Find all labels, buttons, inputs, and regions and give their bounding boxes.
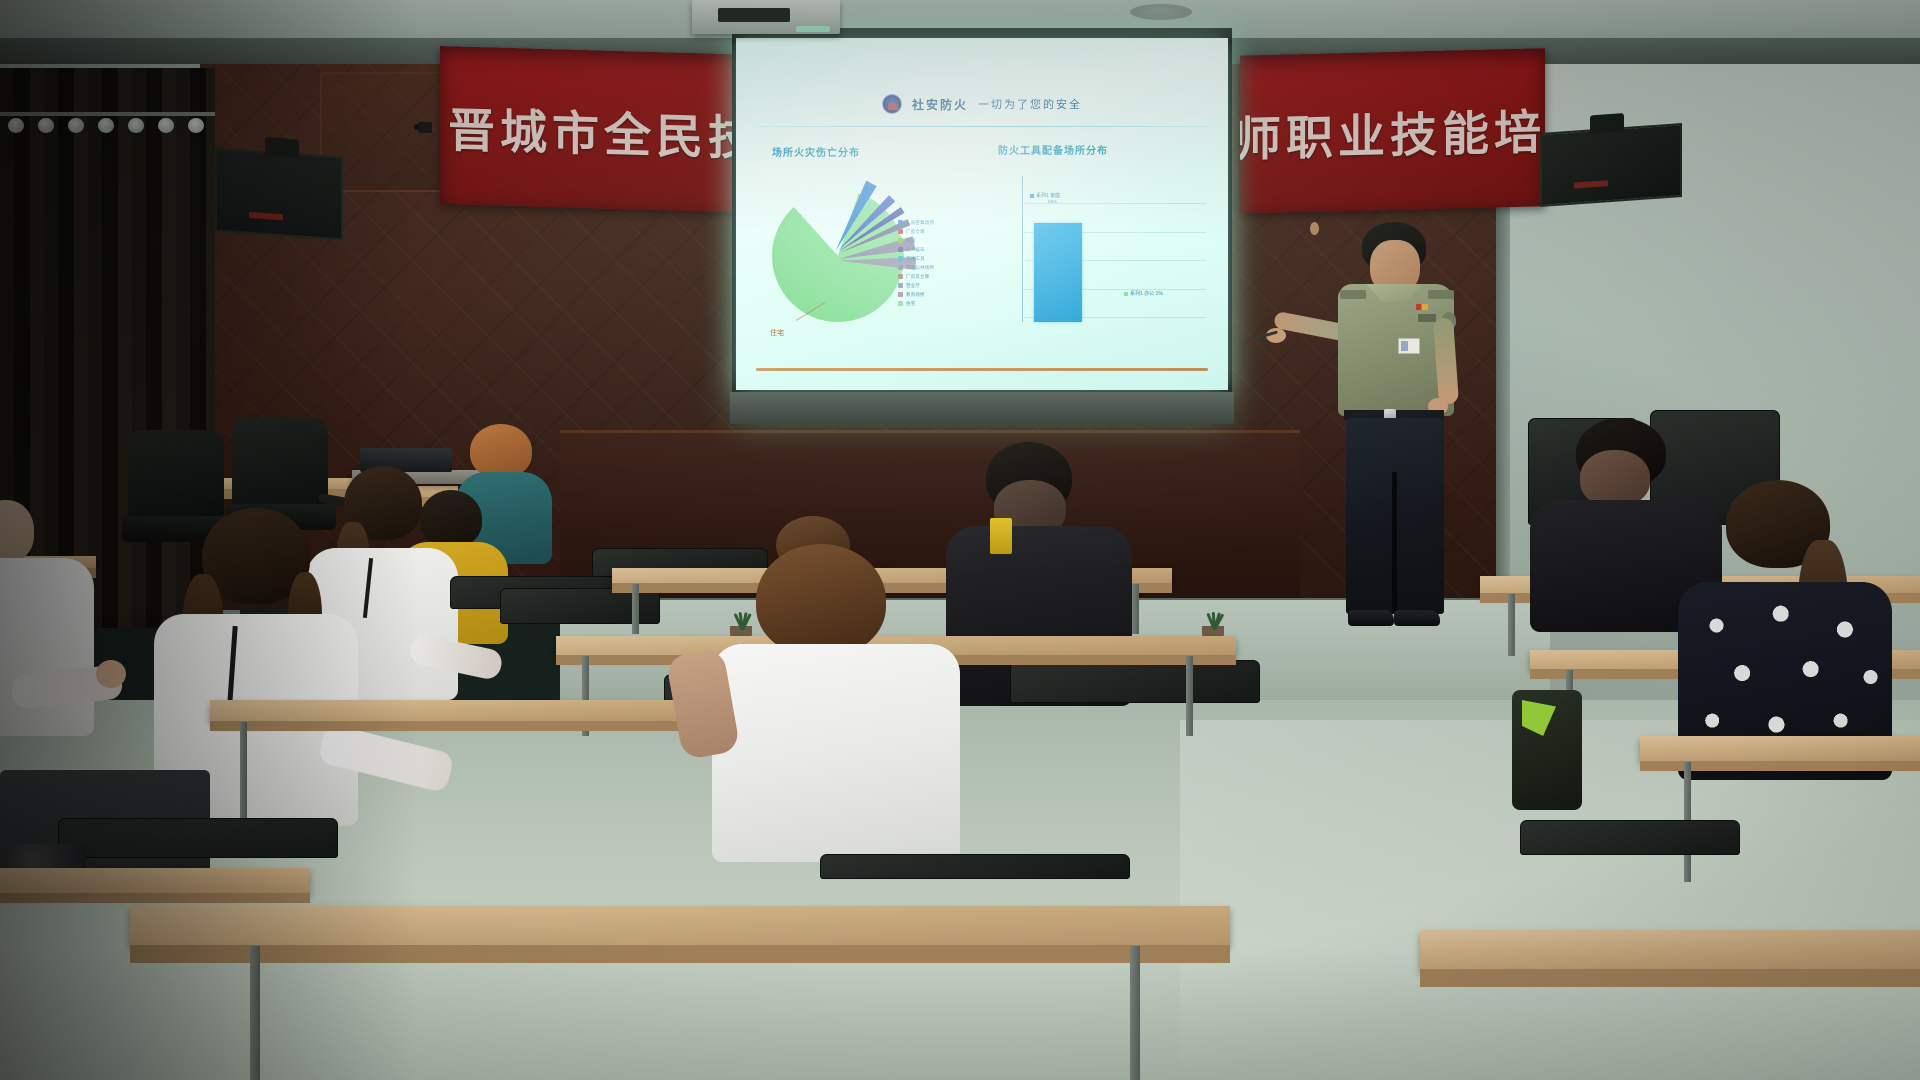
track-light-icon bbox=[188, 118, 204, 133]
classroom-photo: 晋城市全民技能提 师职业技能培训班 社安防火 一切为了您的安全 场所火灾伤亡分布… bbox=[0, 0, 1920, 1080]
presenter-epaulet-right bbox=[1428, 290, 1454, 299]
legend-label: 教育场所 bbox=[906, 292, 925, 298]
track-light-icon bbox=[128, 118, 144, 133]
track-light-icon bbox=[98, 118, 114, 133]
presenter-name-tag bbox=[1418, 314, 1436, 322]
projected-slide: 社安防火 一切为了您的安全 场所火灾伤亡分布 防火工具配备场所分布 人员密集场所… bbox=[736, 38, 1228, 390]
attendee-hair bbox=[470, 424, 532, 478]
legend-label: 营业厅 bbox=[906, 283, 920, 289]
bar-chart-bar bbox=[1034, 223, 1082, 322]
desk-row-left-b bbox=[210, 700, 700, 722]
pie-legend-item: 住宅 bbox=[898, 299, 934, 308]
chair bbox=[1010, 660, 1260, 730]
track-light-icon bbox=[38, 118, 54, 133]
presenter-leg-gap bbox=[1392, 472, 1397, 614]
pie-legend-item: 厂房仓库 bbox=[898, 227, 934, 236]
wall-speaker-left bbox=[215, 148, 343, 241]
slide-tagline: 一切为了您的安全 bbox=[978, 96, 1082, 112]
shield-logo-icon bbox=[882, 94, 902, 114]
potted-plant bbox=[1190, 588, 1236, 630]
legend-swatch bbox=[898, 220, 903, 225]
pie-legend-item: 公共娱乐 bbox=[898, 245, 934, 254]
desk-front-left bbox=[0, 868, 310, 894]
attendee-hair bbox=[420, 490, 482, 548]
chair bbox=[1520, 820, 1740, 876]
legend-swatch bbox=[898, 247, 903, 252]
pie-chart-title: 场所火灾伤亡分布 bbox=[772, 144, 860, 159]
legend-label: 人员密集场所 bbox=[906, 220, 934, 226]
legend-label: 公共娱乐 bbox=[906, 247, 925, 253]
legend-swatch bbox=[898, 292, 903, 297]
legend-label: 交通工具 bbox=[906, 256, 925, 262]
pie-legend-item: 人员密集场所 bbox=[898, 218, 934, 227]
ceiling-vent-icon bbox=[1130, 4, 1192, 20]
presenter-epaulet-left bbox=[1340, 290, 1366, 299]
legend-swatch bbox=[898, 229, 903, 234]
bar-label-text: 系列1 家庭 bbox=[1036, 192, 1060, 199]
legend-label: 住宅 bbox=[906, 301, 915, 307]
presenter-shoe-left bbox=[1348, 610, 1394, 626]
bar-chart: 系列1 家庭 68% 系列1 办公 1% bbox=[988, 166, 1210, 358]
bar-series-label-family: 系列1 家庭 bbox=[1030, 192, 1060, 199]
track-light-icon bbox=[68, 118, 84, 133]
attendee-shirt bbox=[0, 558, 94, 736]
legend-label: 厂房仓库 bbox=[906, 229, 925, 235]
legend-swatch bbox=[898, 238, 903, 243]
wall-camera-icon bbox=[418, 122, 432, 133]
bar-chart-y-axis bbox=[1022, 176, 1023, 322]
legend-swatch bbox=[898, 301, 903, 306]
pie-legend-item: 商铺 bbox=[898, 236, 934, 245]
legend-label: 厂房及仓库 bbox=[906, 274, 930, 280]
bar-chart-title: 防火工具配备场所分布 bbox=[998, 142, 1108, 157]
track-light-icon bbox=[158, 118, 174, 133]
slide-header: 社安防火 一切为了您的安全 bbox=[736, 90, 1228, 118]
presenter-flag-pin bbox=[1416, 304, 1428, 310]
attendee-hand bbox=[96, 660, 126, 688]
banner-right: 师职业技能培训班 bbox=[1240, 48, 1545, 213]
bar-label-text-2: 系列1 办公 1% bbox=[1130, 290, 1163, 297]
legend-swatch bbox=[898, 265, 903, 270]
legend-swatch bbox=[898, 274, 903, 279]
pie-legend-item: 其他公共场所 bbox=[898, 263, 934, 272]
presenter-shoe-right bbox=[1394, 610, 1440, 626]
pie-legend-item: 教育场所 bbox=[898, 290, 934, 299]
bar-series-label-office: 系列1 办公 1% bbox=[1124, 290, 1163, 297]
projector-lens-icon bbox=[796, 26, 830, 32]
presenter-ear bbox=[1310, 222, 1319, 235]
presenter-instructor bbox=[1310, 222, 1510, 672]
banner-right-text: 师职业技能培训班 bbox=[1240, 90, 1545, 169]
pie-legend-item: 厂房及仓库 bbox=[898, 272, 934, 281]
track-light-icon bbox=[8, 118, 24, 133]
attendee-shirt bbox=[712, 644, 960, 862]
bar-data-label: 68% bbox=[1048, 199, 1057, 204]
slide-footer-rule bbox=[756, 368, 1208, 371]
track-light-rail bbox=[0, 112, 215, 116]
attendee-hair bbox=[756, 544, 886, 656]
desk-row-right-c bbox=[1640, 736, 1920, 762]
wall-speaker-right bbox=[1540, 123, 1682, 207]
yellow-bottle bbox=[990, 518, 1012, 554]
legend-label: 其他公共场所 bbox=[906, 265, 934, 271]
legend-swatch bbox=[898, 283, 903, 288]
chair bbox=[820, 854, 1130, 894]
legend-label: 商铺 bbox=[906, 238, 915, 244]
ceiling-projector bbox=[692, 0, 840, 34]
attendee-head bbox=[1580, 450, 1650, 506]
screen-bottom-bar bbox=[730, 392, 1234, 424]
slide-divider bbox=[754, 126, 1210, 127]
pie-legend-item: 营业厅 bbox=[898, 281, 934, 290]
legend-swatch bbox=[898, 256, 903, 261]
presenter-id-badge bbox=[1398, 338, 1420, 354]
pie-legend-item: 交通工具 bbox=[898, 254, 934, 263]
pie-callout-label: 住宅 bbox=[770, 328, 784, 338]
pie-legend: 人员密集场所厂房仓库商铺公共娱乐交通工具其他公共场所厂房及仓库营业厅教育场所住宅 bbox=[898, 218, 934, 308]
desk-front-center bbox=[130, 906, 1230, 946]
pie-chart: 人员密集场所厂房仓库商铺公共娱乐交通工具其他公共场所厂房及仓库营业厅教育场所住宅… bbox=[762, 168, 962, 358]
desk-front-right bbox=[1420, 930, 1920, 970]
slide-brand: 社安防火 bbox=[912, 96, 968, 113]
